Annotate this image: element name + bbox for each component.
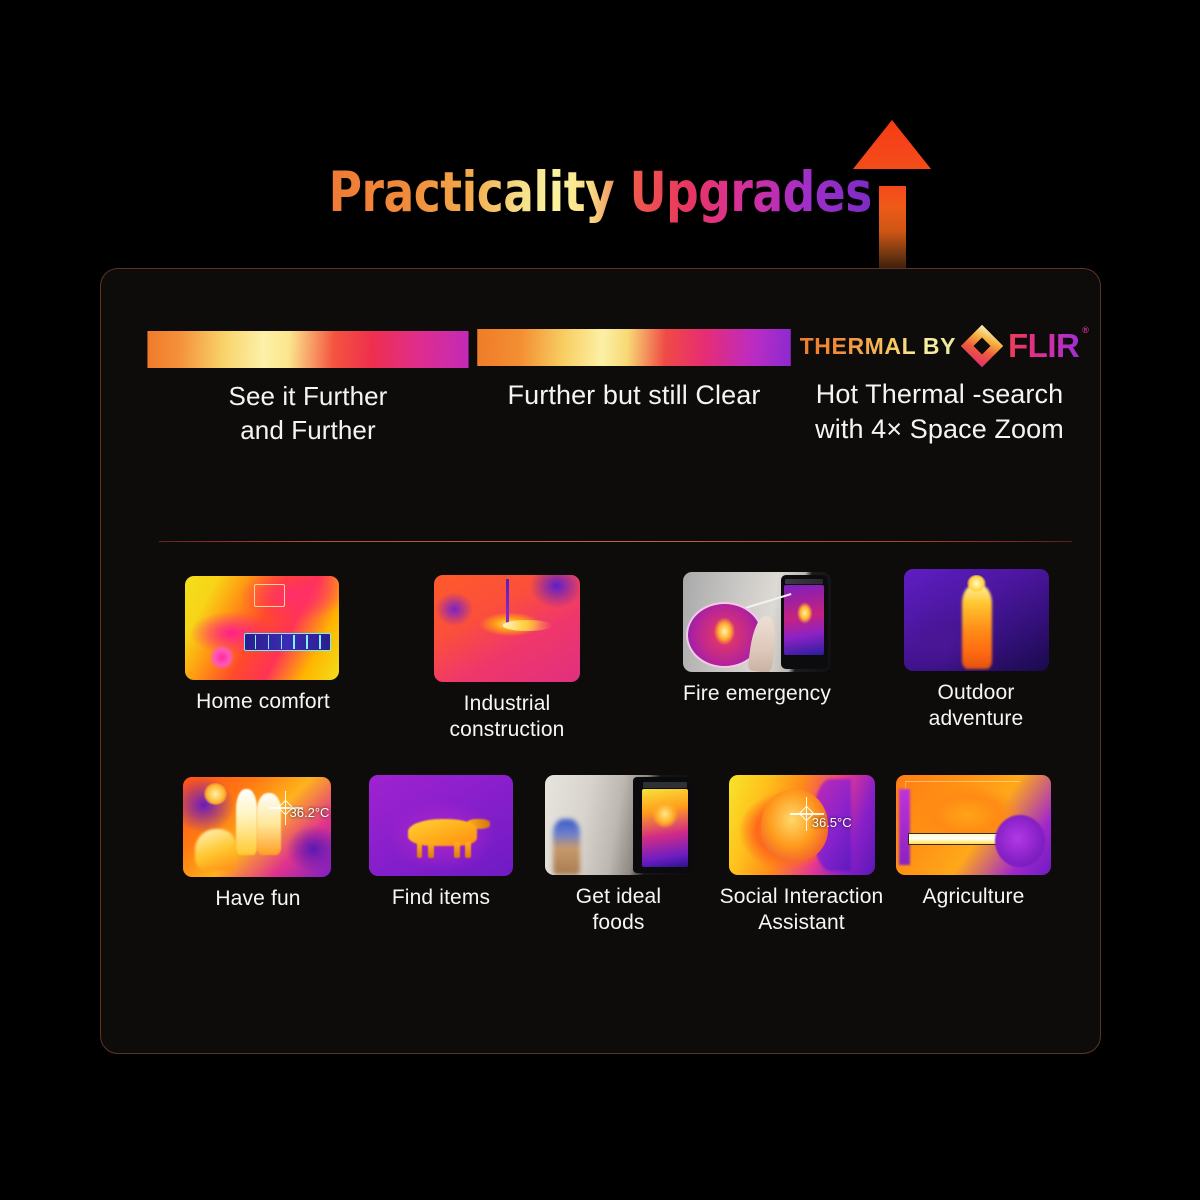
art-vent xyxy=(244,633,332,651)
use-case-thumbnail xyxy=(545,775,693,875)
use-case-thumbnail xyxy=(896,775,1051,875)
use-case-thumbnail xyxy=(434,575,580,682)
temperature-reading: 36.2°C xyxy=(290,805,330,820)
label-line1: Agriculture xyxy=(891,884,1056,910)
art-phone xyxy=(781,575,828,669)
art-hotspot xyxy=(210,645,235,670)
flir-text: FLIR xyxy=(1008,327,1079,364)
page-title-container: Practicality Upgrades xyxy=(0,160,1200,224)
use-case-label: Industrial construction xyxy=(428,691,586,742)
art-body xyxy=(962,585,992,669)
use-case-label: Home comfort xyxy=(185,689,341,715)
arrow-shaft xyxy=(879,186,906,280)
feature-space-zoom: 4× Space Zoom See it Further and Further xyxy=(139,331,477,447)
page-title: Practicality Upgrades xyxy=(328,160,871,224)
label-line1: Social Interaction xyxy=(709,884,894,910)
feature-card: 4× Space Zoom See it Further and Further… xyxy=(100,268,1101,1054)
label-line1: Get ideal xyxy=(541,884,696,910)
label-line2: construction xyxy=(428,717,586,743)
art-phone-statusbar xyxy=(785,579,823,585)
thermal-people-kitchen-image: 36.2°C xyxy=(183,777,331,877)
art-person-3 xyxy=(195,829,236,871)
flir-wordmark: FLIR® xyxy=(1008,327,1079,365)
feature-subtext-line1: Further but still Clear xyxy=(469,378,799,413)
thermal-person-night-image xyxy=(904,569,1049,671)
arrow-head xyxy=(853,120,931,190)
art-grow-light xyxy=(908,833,1004,845)
thermal-face-image: 36.5°C xyxy=(729,775,875,875)
art-rod xyxy=(506,579,510,626)
registered-mark: ® xyxy=(1082,325,1088,335)
feature-heading: 80*60 pixels xyxy=(477,329,791,366)
use-case-outdoor-adventure[interactable]: Outdoor adventure xyxy=(896,569,1056,731)
use-case-social-interaction-assistant[interactable]: 36.5°C Social Interaction Assistant xyxy=(709,775,894,935)
thermal-welding-image xyxy=(434,575,580,682)
use-case-label: Social Interaction Assistant xyxy=(709,884,894,935)
feature-subtext-line2: and Further xyxy=(139,414,477,447)
art-plant xyxy=(995,815,1045,867)
feature-subtext: Hot Thermal -search with 4× Space Zoom xyxy=(777,377,1102,446)
art-spark xyxy=(503,620,553,631)
up-arrow-icon xyxy=(853,120,931,280)
thermal-phone-fridge-image xyxy=(545,775,693,875)
art-frame xyxy=(905,781,1020,817)
feature-subtext: See it Further and Further xyxy=(139,380,477,447)
thermal-greenhouse-image xyxy=(896,775,1051,875)
thermal-phone-firefighter-image xyxy=(683,572,831,672)
feature-subtext-line1: Hot Thermal -search xyxy=(777,377,1102,412)
art-phone-screen xyxy=(784,585,824,655)
label-line2: foods xyxy=(541,910,696,936)
use-case-home-comfort[interactable]: Home comfort xyxy=(185,576,341,715)
art-person-1 xyxy=(236,789,257,855)
art-person xyxy=(553,819,580,875)
label-line2: adventure xyxy=(896,706,1056,732)
art-post xyxy=(899,789,910,865)
use-case-thumbnail xyxy=(683,572,831,672)
label-line1: Find items xyxy=(366,885,516,911)
art-phone-screen xyxy=(642,789,688,867)
feature-resolution: 80*60 pixels Further but still Clear xyxy=(469,329,799,413)
use-case-fire-emergency[interactable]: Fire emergency xyxy=(669,572,845,707)
use-case-thumbnail xyxy=(904,569,1049,671)
feature-flir-brand: THERMAL BY FLIR® Hot Thermal -search wit… xyxy=(777,327,1102,446)
use-case-get-ideal-foods[interactable]: Get ideal foods xyxy=(541,775,696,935)
feature-heading: 4× Space Zoom xyxy=(147,331,468,368)
use-case-label: Get ideal foods xyxy=(541,884,696,935)
art-lamp xyxy=(204,783,228,805)
use-case-label: Agriculture xyxy=(891,884,1056,910)
thermal-animal-image xyxy=(369,775,513,876)
label-line1: Industrial xyxy=(428,691,586,717)
use-case-thumbnail xyxy=(185,576,339,680)
thermal-ac-unit-image xyxy=(185,576,339,680)
use-case-industrial-construction[interactable]: Industrial construction xyxy=(428,575,586,742)
section-divider xyxy=(159,541,1072,542)
label-line2: Assistant xyxy=(709,910,894,936)
use-case-thumbnail: 36.2°C xyxy=(183,777,331,877)
art-panel xyxy=(254,584,285,607)
feature-highlights: 4× Space Zoom See it Further and Further… xyxy=(101,269,1102,499)
temperature-reading: 36.5°C xyxy=(812,815,852,830)
use-case-grid: Home comfort Industrial construction xyxy=(101,569,1102,1029)
feature-subtext: Further but still Clear xyxy=(469,378,799,413)
feature-subtext-line2: with 4× Space Zoom xyxy=(777,412,1102,447)
label-line1: Have fun xyxy=(183,886,333,912)
flir-logo: THERMAL BY FLIR® xyxy=(777,327,1102,365)
use-case-label: Outdoor adventure xyxy=(896,680,1056,731)
use-case-find-items[interactable]: Find items xyxy=(366,775,516,911)
thermal-by-label: THERMAL BY xyxy=(800,333,956,360)
label-line1: Fire emergency xyxy=(669,681,845,707)
use-case-have-fun[interactable]: 36.2°C Have fun xyxy=(183,777,333,912)
promo-page: Practicality Upgrades 4× Space Zoom See … xyxy=(0,0,1200,1200)
art-phone-statusbar xyxy=(643,782,687,788)
use-case-label: Fire emergency xyxy=(669,681,845,707)
use-case-agriculture[interactable]: Agriculture xyxy=(891,775,1056,910)
feature-subtext-line1: See it Further xyxy=(139,380,477,413)
flir-diamond-icon xyxy=(963,327,1001,365)
use-case-label: Have fun xyxy=(183,886,333,912)
use-case-thumbnail: 36.5°C xyxy=(729,775,875,875)
art-phone xyxy=(633,777,692,873)
use-case-thumbnail xyxy=(369,775,513,876)
label-line1: Outdoor xyxy=(896,680,1056,706)
use-case-label: Find items xyxy=(366,885,516,911)
label-line1: Home comfort xyxy=(185,689,341,715)
